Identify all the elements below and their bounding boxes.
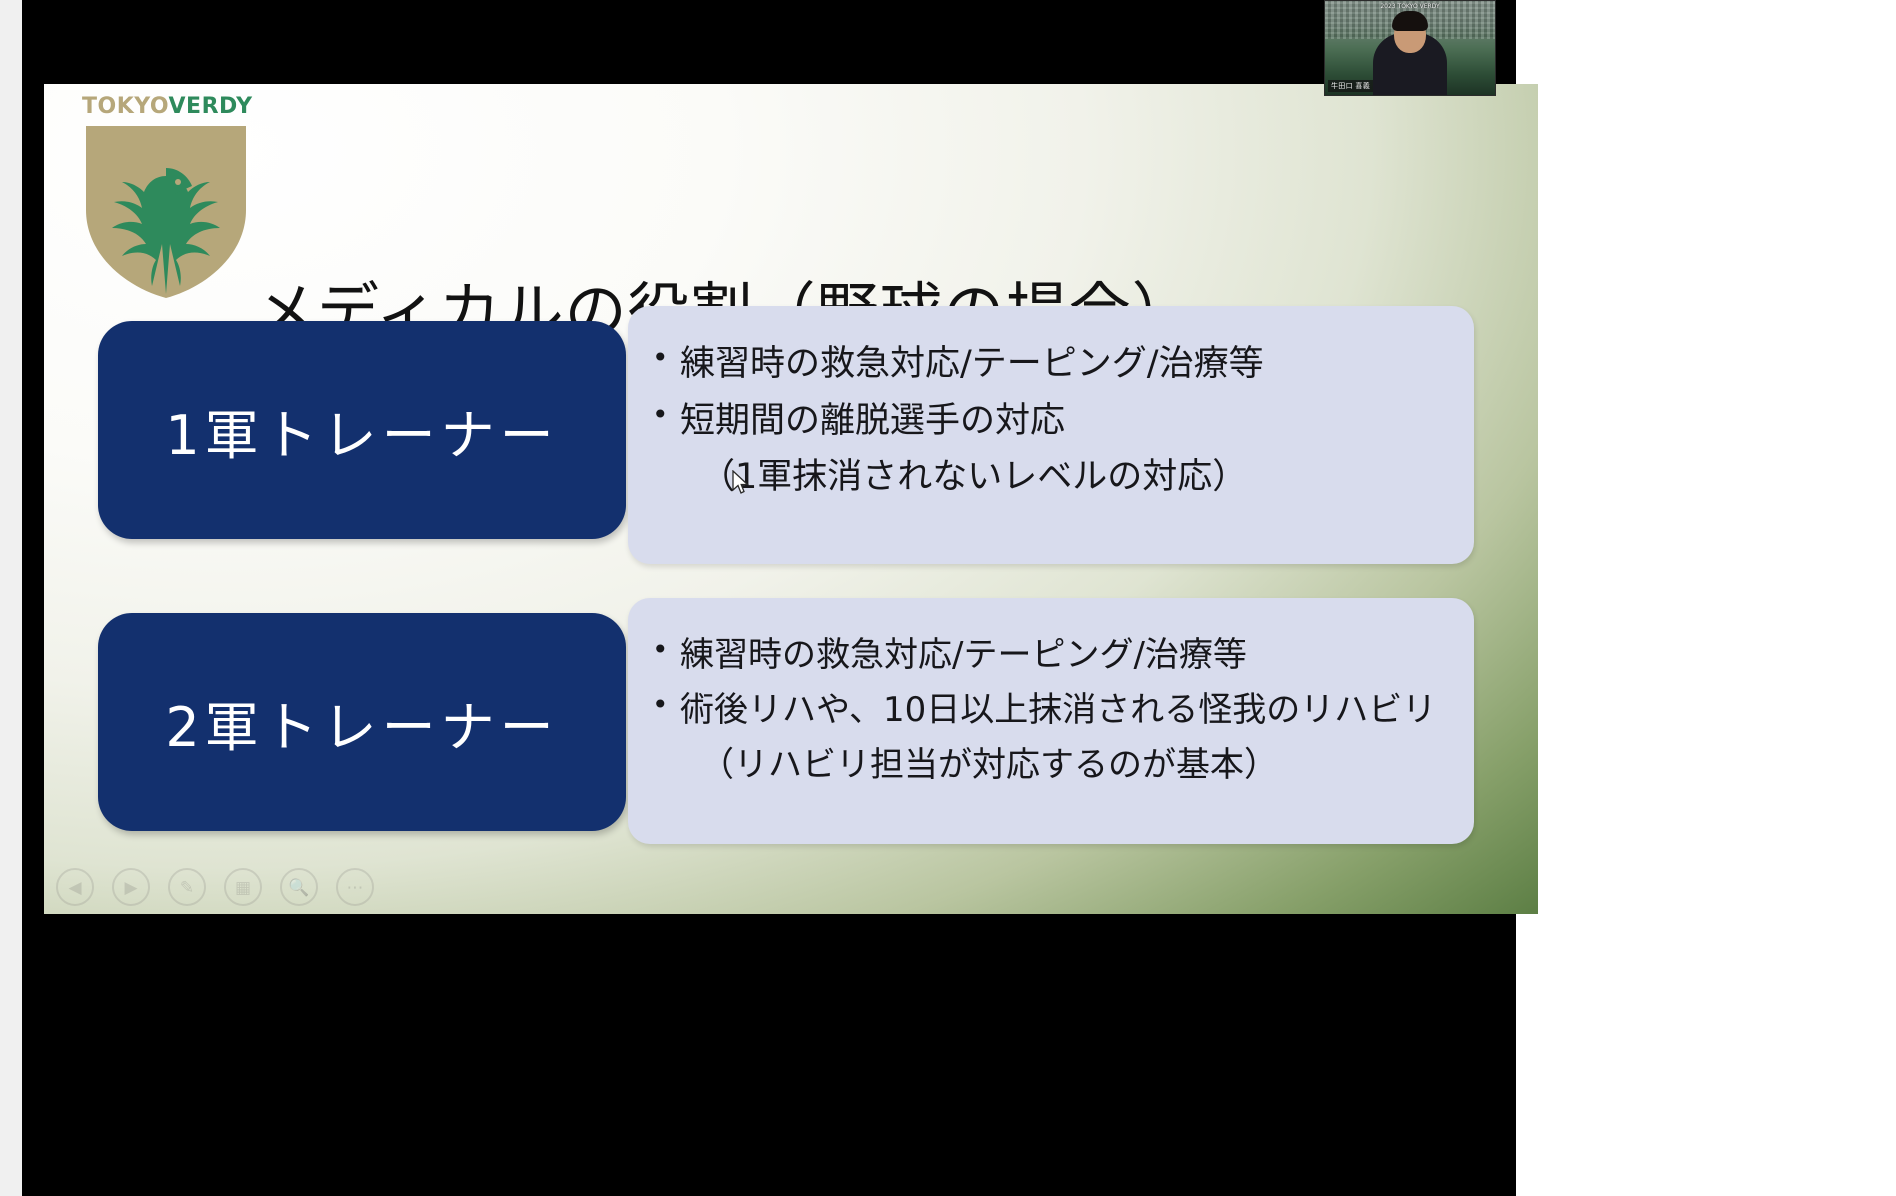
logo-wordmark-verdy: VERDY — [169, 94, 253, 119]
role-label-text-2: 2軍トレーナー — [165, 683, 558, 762]
shield-eagle-icon — [82, 124, 250, 300]
zoom-in-icon[interactable]: 🔍 — [280, 868, 318, 906]
detail-item: 短期間の離脱選手の対応 — [628, 393, 1474, 450]
tokyo-verdy-logo: TOKYOVERDY — [74, 94, 264, 294]
next-slide-icon[interactable]: ▶ — [112, 868, 150, 906]
webcam-overlay[interactable]: 2023 TOKYO VERDY 牛田口 喜義 — [1324, 0, 1496, 96]
slide-canvas[interactable]: TOKYOVERDY メディカルの役割（野球の場合） 1軍トレーナー — [44, 84, 1538, 914]
detail-item-sub: （1軍抹消されないレベルの対応） — [628, 449, 1474, 506]
more-options-icon[interactable]: ⋯ — [336, 868, 374, 906]
detail-item-sub: （リハビリ担当が対応するのが基本） — [628, 738, 1474, 793]
detail-item: 練習時の救急対応/テーピング/治療等 — [628, 336, 1474, 393]
content-row-1: 1軍トレーナー 練習時の救急対応/テーピング/治療等 短期間の離脱選手の対応 （… — [44, 306, 1538, 566]
screen-capture: TOKYOVERDY メディカルの役割（野球の場合） 1軍トレーナー — [0, 0, 1896, 1196]
logo-wordmark-tokyo: TOKYO — [82, 94, 169, 119]
previous-slide-icon[interactable]: ◀ — [56, 868, 94, 906]
presentation-letterbox: TOKYOVERDY メディカルの役割（野球の場合） 1軍トレーナー — [22, 0, 1516, 1196]
logo-wordmark: TOKYOVERDY — [82, 94, 257, 119]
all-slides-icon[interactable]: ▦ — [224, 868, 262, 906]
role-detail-list-1: 練習時の救急対応/テーピング/治療等 短期間の離脱選手の対応 （1軍抹消されない… — [628, 336, 1474, 506]
role-detail-card-2[interactable]: 練習時の救急対応/テーピング/治療等 術後リハや、10日以上抹消される怪我のリハ… — [628, 598, 1474, 844]
role-label-card-2[interactable]: 2軍トレーナー — [98, 613, 626, 831]
webcam-top-overlay-text: 2023 TOKYO VERDY — [1380, 3, 1439, 10]
content-row-2: 2軍トレーナー 練習時の救急対応/テーピング/治療等 術後リハや、10日以上抹消… — [44, 598, 1538, 858]
page-edge-left — [0, 0, 22, 1196]
presenter-toolbar[interactable]: ◀ ▶ ✎ ▦ 🔍 ⋯ — [56, 868, 374, 906]
page-edge-right — [1496, 0, 1896, 1196]
role-detail-list-2: 練習時の救急対応/テーピング/治療等 術後リハや、10日以上抹消される怪我のリハ… — [628, 628, 1474, 793]
detail-item: 術後リハや、10日以上抹消される怪我のリハビリ — [628, 683, 1474, 738]
webcam-name-badge: 牛田口 喜義 — [1328, 80, 1373, 92]
webcam-person-hair — [1392, 11, 1428, 31]
detail-item: 練習時の救急対応/テーピング/治療等 — [628, 628, 1474, 683]
role-detail-card-1[interactable]: 練習時の救急対応/テーピング/治療等 短期間の離脱選手の対応 （1軍抹消されない… — [628, 306, 1474, 564]
pen-tool-icon[interactable]: ✎ — [168, 868, 206, 906]
role-label-card-1[interactable]: 1軍トレーナー — [98, 321, 626, 539]
role-label-text-1: 1軍トレーナー — [165, 391, 558, 470]
